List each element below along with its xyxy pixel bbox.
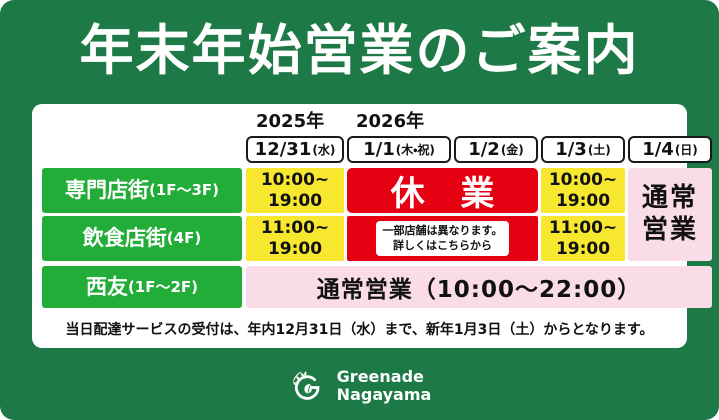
row-label-restaurant-main: 飲食店街 — [83, 228, 167, 249]
cell-normal-0104-line2: 営業 — [642, 215, 698, 247]
cell-restaurant-0103-open: 11:00~ — [549, 218, 617, 238]
poster-title-bar: 年末年始営業のご案内 — [0, 8, 719, 94]
date-pill-0104-date: 1/4 — [642, 141, 674, 159]
date-pill-0101-dow: (木・祝) — [396, 144, 435, 156]
year-label-2025: 2025年 — [256, 110, 324, 134]
cell-restaurant-0103-close: 19:00 — [556, 239, 610, 259]
restaurant-exception-note-line2: 詳しくはこちらから — [383, 239, 503, 254]
cell-specialty-0103: 10:00~ 19:00 — [541, 168, 625, 213]
cell-restaurant-1231-close: 19:00 — [268, 239, 322, 259]
cell-restaurant-0103: 11:00~ 19:00 — [541, 216, 625, 261]
cell-specialty-1231-open: 10:00~ — [261, 170, 329, 190]
cell-specialty-0103-close: 19:00 — [556, 191, 610, 211]
leaf-circle-g-logo-icon — [288, 366, 328, 406]
cell-restaurant-closed-note: 一部店舗は異なります。 詳しくはこちらから — [347, 216, 538, 261]
date-pill-0101: 1/1(木・祝) — [347, 136, 451, 163]
date-pill-0104-dow: (日) — [675, 144, 698, 156]
row-label-seiyu: 西友(1F～2F) — [42, 266, 242, 308]
cell-normal-0104-line1: 通常 — [642, 183, 698, 215]
row-label-specialty-main: 専門店街 — [65, 180, 149, 201]
brand-logo-text: Greenade Nagayama — [337, 368, 432, 405]
date-pill-0102: 1/2(金) — [454, 136, 538, 163]
date-pill-1231-date: 12/31 — [255, 141, 312, 159]
delivery-service-footnote: 当日配達サービスの受付は、年内12月31日（水）まで、新年1月3日（土）からとな… — [42, 316, 677, 342]
date-pill-1231-dow: (水) — [312, 144, 335, 156]
year-label-2026: 2026年 — [356, 110, 424, 134]
schedule-grid: 専門店街(1F～3F) 10:00~ 19:00 休 業 10:00~ 19:0… — [32, 168, 687, 310]
date-pill-0101-date: 1/1 — [363, 141, 395, 159]
date-header-row: 12/31(水) 1/1(木・祝) 1/2(金) 1/3(土) 1/4(日) — [32, 136, 687, 164]
row-label-specialty: 専門店街(1F～3F) — [42, 168, 242, 213]
row-label-seiyu-main: 西友 — [86, 277, 128, 298]
row-label-restaurant-sub: (4F) — [167, 231, 201, 246]
brand-logo-line1: Greenade — [337, 368, 432, 386]
restaurant-exception-note[interactable]: 一部店舗は異なります。 詳しくはこちらから — [376, 221, 510, 257]
row-label-seiyu-sub: (1F～2F) — [128, 280, 198, 295]
notice-poster: 年末年始営業のご案内 2025年 2026年 12/31(水) 1/1(木・祝)… — [0, 0, 719, 420]
brand-logo-line2: Nagayama — [337, 386, 432, 404]
date-pill-0102-date: 1/2 — [468, 141, 500, 159]
row-label-specialty-sub: (1F～3F) — [149, 183, 219, 198]
cell-restaurant-1231-open: 11:00~ — [261, 218, 329, 238]
date-pill-0103-date: 1/3 — [555, 141, 587, 159]
cell-seiyu-all-dates: 通常営業（10:00～22:00） — [246, 266, 712, 308]
date-pill-1231: 12/31(水) — [246, 136, 344, 163]
brand-logo: Greenade Nagayama — [0, 358, 719, 414]
cell-specialty-0103-open: 10:00~ — [549, 170, 617, 190]
page-title: 年末年始営業のご案内 — [80, 24, 640, 78]
date-pill-0102-dow: (金) — [501, 144, 524, 156]
year-label-row: 2025年 2026年 — [32, 110, 687, 134]
schedule-card: 2025年 2026年 12/31(水) 1/1(木・祝) 1/2(金) 1/3… — [32, 104, 687, 348]
cell-restaurant-1231: 11:00~ 19:00 — [246, 216, 344, 261]
restaurant-exception-note-line1: 一部店舗は異なります。 — [383, 224, 503, 239]
date-pill-0103: 1/3(土) — [541, 136, 625, 163]
date-pill-0104: 1/4(日) — [628, 136, 712, 163]
date-pill-0103-dow: (土) — [588, 144, 611, 156]
cell-specialty-1231: 10:00~ 19:00 — [246, 168, 344, 213]
row-label-restaurant: 飲食店街(4F) — [42, 216, 242, 261]
cell-closed-0101-0102: 休 業 — [347, 168, 538, 213]
cell-specialty-1231-close: 19:00 — [268, 191, 322, 211]
cell-normal-0104: 通常 営業 — [628, 168, 712, 261]
